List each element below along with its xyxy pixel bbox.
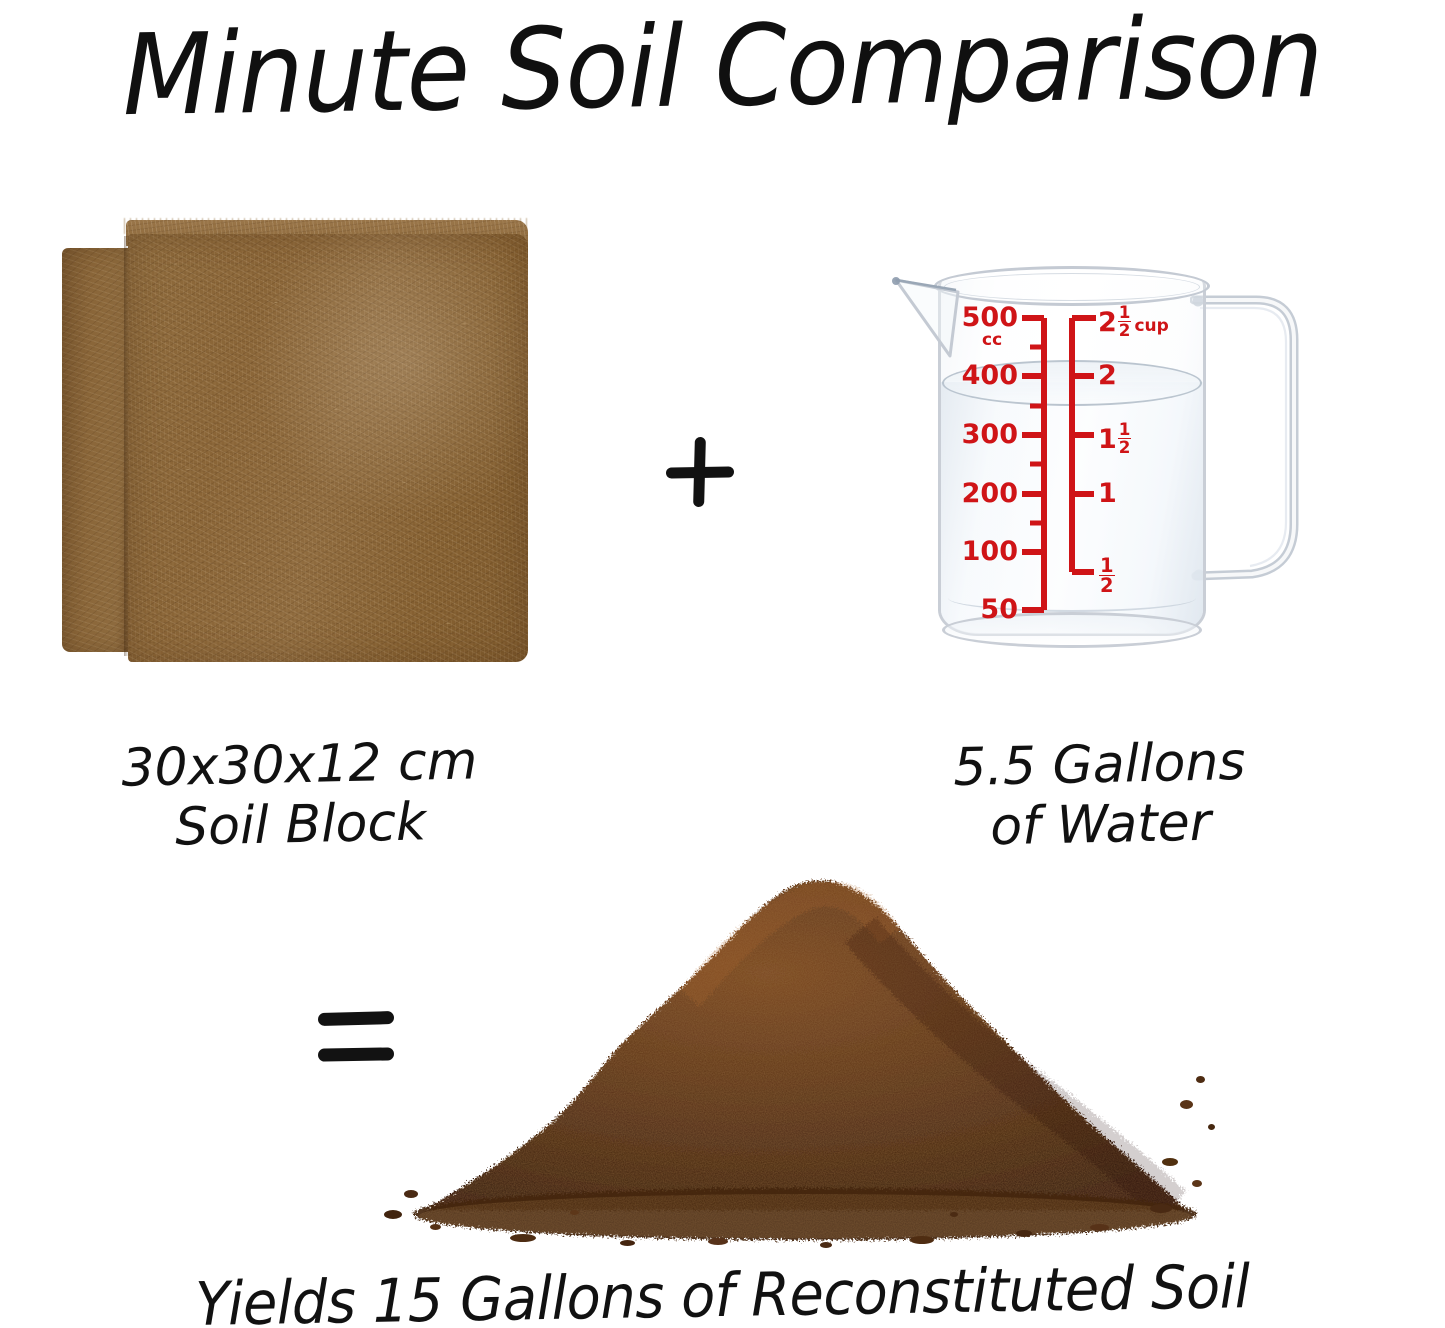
scale-unit-label: cc (982, 332, 1002, 349)
soil-speck (510, 1234, 536, 1242)
soil-speck (1208, 1124, 1215, 1130)
scale-label-500: 500 (946, 304, 1018, 331)
equals-top-bar (318, 1011, 394, 1026)
page-title: Minute Soil Comparison (57, 0, 1388, 142)
measuring-cup-handle (1190, 288, 1310, 588)
soil-speck (1192, 1180, 1202, 1187)
soil-speck (820, 1242, 832, 1248)
plus-operator-icon (660, 432, 740, 512)
plus-vertical-bar (693, 437, 706, 507)
soil-speck (1196, 1076, 1205, 1083)
scale-label-300: 300 (946, 421, 1018, 448)
soil-block-front-face (128, 234, 528, 662)
measuring-cup-scale: 500 cc 400 300 200 100 50 212cup 2 112 1… (938, 280, 1206, 636)
soil-block-fiber-fringe (122, 218, 532, 234)
soil-mound-shape-icon (390, 838, 1210, 1258)
yield-caption: Yields 15 Gallons of Reconstituted Soil (50, 1251, 1395, 1328)
fraction-one-half: 12 (1118, 421, 1132, 455)
soil-speck (620, 1240, 635, 1246)
scale-label-400: 400 (946, 362, 1018, 389)
fraction-one-half: 12 (1118, 304, 1132, 338)
soil-speck (1016, 1230, 1032, 1237)
scale-cup-unit: cup (1134, 316, 1168, 336)
fraction-one-half: 12 (1099, 556, 1115, 596)
equals-bottom-bar (318, 1047, 394, 1061)
scale-label-half: 12 (1098, 556, 1115, 596)
soil-speck (570, 1210, 579, 1215)
scale-label-1: 1 (1098, 480, 1117, 507)
scale-label-200: 200 (946, 480, 1018, 507)
scale-whole-2: 2 (1098, 307, 1117, 338)
handle-shape-icon (1190, 288, 1310, 588)
scale-whole-1: 1 (1098, 424, 1117, 455)
soil-speck (910, 1236, 934, 1244)
soil-block-edge (124, 236, 129, 656)
scale-label-1-and-half: 112 (1098, 421, 1131, 455)
scale-label-100: 100 (946, 538, 1018, 565)
soil-speck (950, 1212, 958, 1217)
soil-speck (384, 1210, 402, 1219)
equals-operator-icon (318, 1010, 400, 1072)
scale-label-2: 2 (1098, 362, 1117, 389)
soil-speck (1090, 1224, 1109, 1231)
scale-label-2-and-half-cup: 212cup (1098, 304, 1169, 338)
soil-speck (708, 1238, 728, 1245)
scale-label-50: 50 (946, 596, 1018, 623)
soil-pile-image (390, 838, 1210, 1258)
soil-block-side-face (62, 248, 132, 652)
soil-speck (1180, 1100, 1193, 1109)
soil-speck (1150, 1204, 1172, 1213)
soil-speck (404, 1190, 418, 1198)
infographic-page: Minute Soil Comparison (0, 0, 1445, 1328)
soil-speck (1162, 1158, 1178, 1166)
measuring-cup-image: 500 cc 400 300 200 100 50 212cup 2 112 1… (890, 262, 1310, 652)
soil-speck (430, 1224, 441, 1230)
soil-block-image (60, 218, 528, 678)
